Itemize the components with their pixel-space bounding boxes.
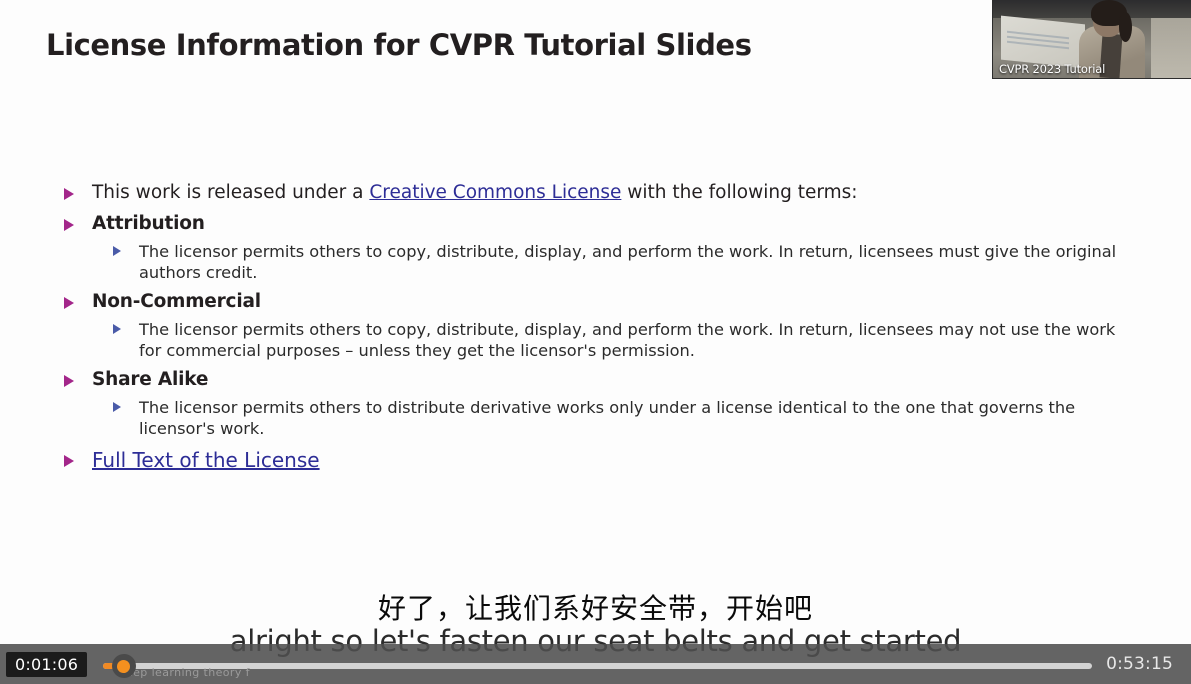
bullet-non-commercial-detail-text: The licensor permits others to copy, dis…: [139, 320, 1115, 360]
player-control-bar[interactable]: 0:01:06 Deep learning theory f 0:53:15: [0, 644, 1191, 684]
bullet-attribution-label: Attribution: [92, 213, 205, 234]
bullet-share-alike-detail: The licensor permits others to distribut…: [62, 397, 1132, 439]
creative-commons-license-link[interactable]: Creative Commons License: [369, 182, 621, 203]
slide-canvas: License Information for CVPR Tutorial Sl…: [0, 0, 1191, 684]
total-time-display: 0:53:15: [1106, 654, 1173, 674]
seek-track[interactable]: [103, 663, 1092, 669]
pip-right-wall: [1151, 18, 1191, 78]
triangle-bullet-icon: [64, 188, 74, 200]
video-player[interactable]: License Information for CVPR Tutorial Sl…: [0, 0, 1191, 684]
seek-handle[interactable]: [112, 654, 136, 678]
triangle-bullet-icon: [64, 219, 74, 231]
bullet-non-commercial-label: Non-Commercial: [92, 291, 261, 312]
bullet-non-commercial-detail: The licensor permits others to copy, dis…: [62, 319, 1132, 361]
current-time-display: 0:01:06: [6, 652, 87, 677]
bullet-attribution: Attribution: [62, 209, 1132, 239]
speaker-thumbnail-video[interactable]: CVPR 2023 Tutorial: [992, 0, 1191, 79]
bullet-full-text: Full Text of the License: [62, 445, 1132, 477]
bullet-attribution-detail: The licensor permits others to copy, dis…: [62, 241, 1132, 283]
pip-speaker-hair-back: [1119, 12, 1132, 42]
triangle-subbullet-icon: [113, 324, 121, 334]
bullet-share-alike: Share Alike: [62, 365, 1132, 395]
bullet-intro: This work is released under a Creative C…: [62, 178, 1132, 208]
bullet-intro-post: with the following terms:: [621, 182, 857, 203]
triangle-bullet-icon: [64, 375, 74, 387]
page-title: License Information for CVPR Tutorial Sl…: [46, 28, 752, 62]
triangle-subbullet-icon: [113, 402, 121, 412]
bullet-attribution-detail-text: The licensor permits others to copy, dis…: [139, 242, 1116, 282]
chapter-label: Deep learning theory f: [117, 666, 250, 679]
triangle-bullet-icon: [64, 297, 74, 309]
slide-bullet-list: This work is released under a Creative C…: [62, 178, 1132, 478]
triangle-bullet-icon: [64, 455, 74, 467]
bullet-share-alike-label: Share Alike: [92, 369, 208, 390]
seek-bar[interactable]: Deep learning theory f: [103, 644, 1092, 684]
bullet-intro-pre: This work is released under a: [92, 182, 369, 203]
bullet-non-commercial: Non-Commercial: [62, 287, 1132, 317]
pip-caption-label: CVPR 2023 Tutorial: [999, 62, 1105, 76]
full-text-of-license-link[interactable]: Full Text of the License: [92, 448, 320, 472]
bullet-share-alike-detail-text: The licensor permits others to distribut…: [139, 398, 1075, 438]
triangle-subbullet-icon: [113, 246, 121, 256]
